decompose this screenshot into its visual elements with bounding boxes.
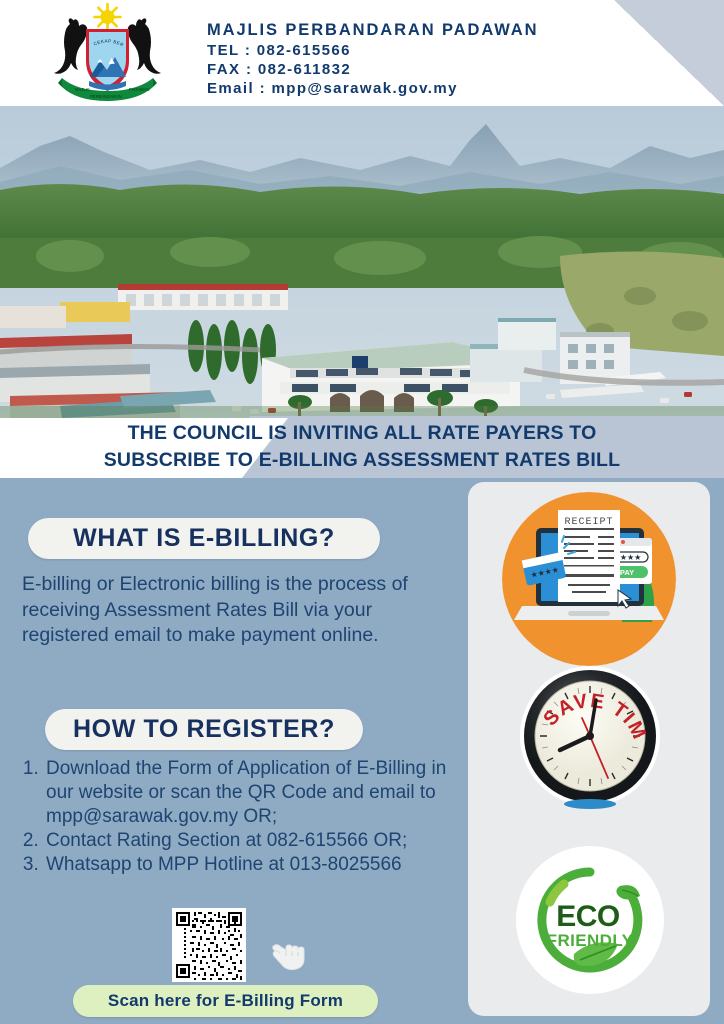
scan-here-button[interactable]: Scan here for E-Billing Form <box>73 985 378 1017</box>
svg-text:MAJLIS: MAJLIS <box>75 87 90 92</box>
qr-code[interactable] <box>172 908 246 982</box>
friendly-label: FRIENDLY <box>547 931 634 950</box>
receipt-title: RECEIPT <box>564 517 613 528</box>
header-contact-block: MAJLIS PERBANDARAN PADAWAN TEL : 082-615… <box>207 20 538 99</box>
poster: CEKAP BERSIH MAKMUR MAJLIS PERBANDARAN P… <box>0 0 724 1024</box>
heraldic-cat-left <box>54 18 87 73</box>
aerial-town-photo <box>0 106 724 418</box>
what-is-ebilling-heading: WHAT IS E-BILLING? <box>28 518 380 559</box>
what-is-ebilling-body: E-billing or Electronic billing is the p… <box>22 572 442 649</box>
eco-label: ECO <box>556 900 620 933</box>
banner-headline: THE COUNCIL IS INVITING ALL RATE PAYERS … <box>0 420 724 474</box>
banner-headline-line2: SUBSCRIBE TO E-BILLING ASSESSMENT RATES … <box>0 447 724 474</box>
pointing-hand-icon <box>268 930 308 972</box>
council-tel: TEL : 082-615566 <box>207 41 538 60</box>
list-item: Contact Rating Section at 082-615566 OR; <box>44 829 476 853</box>
heraldic-cat-right <box>128 18 161 73</box>
council-email: Email : mpp@sarawak.gov.my <box>207 79 538 98</box>
eco-friendly-badge: ECO FRIENDLY <box>516 846 664 994</box>
header: CEKAP BERSIH MAKMUR MAJLIS PERBANDARAN P… <box>0 0 724 106</box>
pay-button-label: PAY <box>620 568 634 577</box>
list-item: Whatsapp to MPP Hotline at 013-8025566 <box>44 853 476 877</box>
header-corner-decoration <box>614 0 724 106</box>
save-time-clock-illustration: SAVE TIME <box>516 662 664 810</box>
how-to-register-steps: Download the Form of Application of E-Bi… <box>18 757 476 877</box>
mpp-coat-of-arms-logo: CEKAP BERSIH MAKMUR MAJLIS PERBANDARAN P… <box>30 3 185 103</box>
banner-headline-line1: THE COUNCIL IS INVITING ALL RATE PAYERS … <box>0 420 724 447</box>
list-item: Download the Form of Application of E-Bi… <box>44 757 476 829</box>
svg-text:PADAWAN: PADAWAN <box>129 87 150 92</box>
council-fax: FAX : 082-611832 <box>207 60 538 79</box>
svg-text:PERBANDARAN: PERBANDARAN <box>90 94 122 99</box>
online-payment-illustration: ★★★★ PAY RECEIPT ★★★★ <box>502 492 676 666</box>
how-to-register-heading: HOW TO REGISTER? <box>45 709 363 750</box>
council-name: MAJLIS PERBANDARAN PADAWAN <box>207 20 538 41</box>
